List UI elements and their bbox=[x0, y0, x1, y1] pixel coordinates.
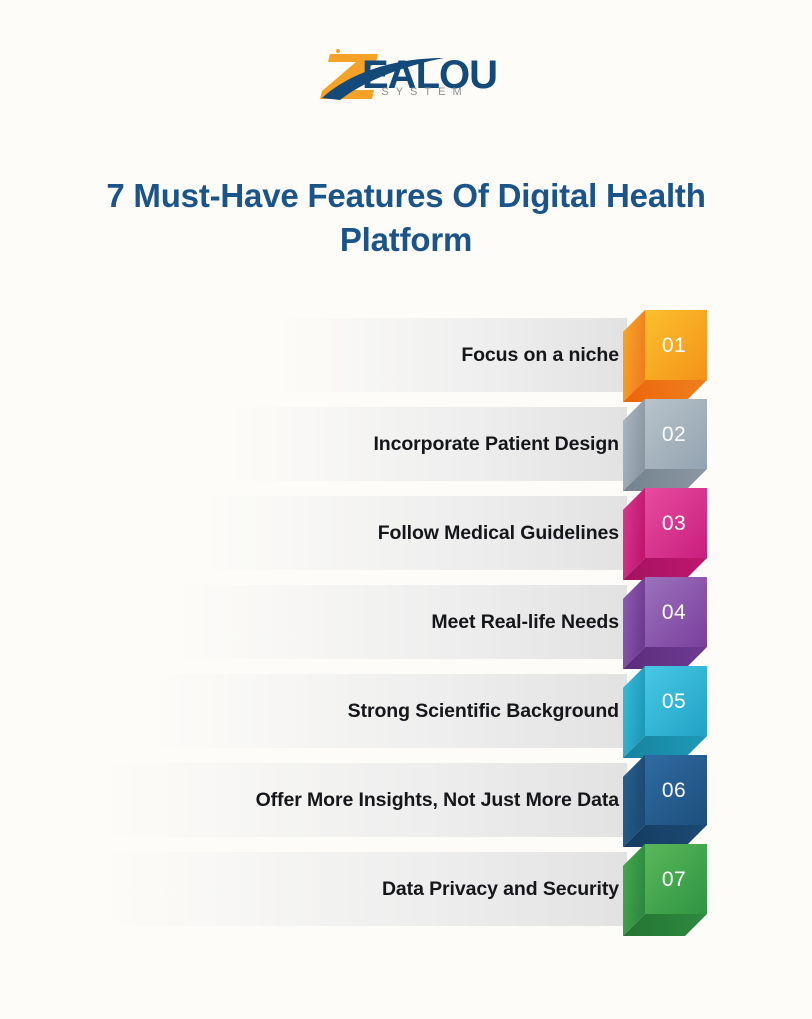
feature-number-cube: 04 bbox=[623, 577, 707, 669]
feature-number-cube: 06 bbox=[623, 755, 707, 847]
feature-label: Offer More Insights, Not Just More Data bbox=[256, 763, 619, 837]
feature-label: Incorporate Patient Design bbox=[373, 407, 619, 481]
feature-number-cube: 03 bbox=[623, 488, 707, 580]
feature-row[interactable]: Incorporate Patient Design02 bbox=[222, 407, 707, 481]
feature-row[interactable]: Offer More Insights, Not Just More Data0… bbox=[95, 763, 707, 837]
feature-number: 02 bbox=[649, 423, 699, 447]
feature-row[interactable]: Meet Real-life Needs04 bbox=[170, 585, 707, 659]
feature-label: Data Privacy and Security bbox=[382, 852, 619, 926]
logo-accent-dot bbox=[336, 49, 340, 53]
logo-tagline: SYSTEM bbox=[354, 86, 496, 98]
logo-mark: EALOUS SYSTEM bbox=[316, 46, 496, 108]
brand-logo: EALOUS SYSTEM bbox=[0, 46, 812, 108]
feature-number: 05 bbox=[649, 690, 699, 714]
feature-number-cube: 02 bbox=[623, 399, 707, 491]
feature-number-cube: 01 bbox=[623, 310, 707, 402]
feature-row[interactable]: Strong Scientific Background05 bbox=[144, 674, 707, 748]
page-title: 7 Must-Have Features Of Digital Health P… bbox=[106, 174, 706, 262]
feature-number: 04 bbox=[649, 601, 699, 625]
feature-number-cube: 05 bbox=[623, 666, 707, 758]
feature-row[interactable]: Data Privacy and Security07 bbox=[95, 852, 707, 926]
logo-artwork: EALOUS bbox=[316, 46, 496, 108]
feature-number: 06 bbox=[649, 779, 699, 803]
feature-number: 01 bbox=[649, 334, 699, 358]
feature-label: Focus on a niche bbox=[461, 318, 619, 392]
feature-label: Meet Real-life Needs bbox=[431, 585, 619, 659]
feature-label: Strong Scientific Background bbox=[348, 674, 619, 748]
feature-label: Follow Medical Guidelines bbox=[378, 496, 619, 570]
feature-row[interactable]: Follow Medical Guidelines03 bbox=[196, 496, 707, 570]
feature-row[interactable]: Focus on a niche01 bbox=[272, 318, 707, 392]
feature-number-cube: 07 bbox=[623, 844, 707, 936]
feature-number: 07 bbox=[649, 868, 699, 892]
feature-list: Focus on a niche01Incorporate Patient De… bbox=[0, 318, 812, 948]
feature-number: 03 bbox=[649, 512, 699, 536]
